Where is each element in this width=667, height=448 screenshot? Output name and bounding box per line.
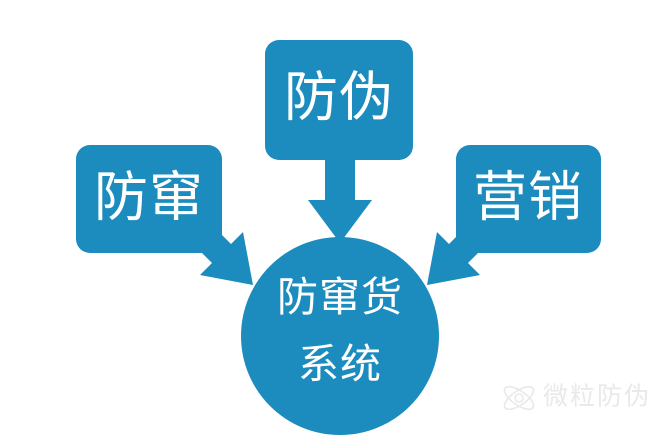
arrow-top-down-icon: [308, 150, 372, 243]
node-fangcuan-label: 防窜: [94, 167, 204, 227]
node-yingxiao[interactable]: 营销: [456, 145, 601, 253]
watermark: 微粒防伪: [501, 383, 651, 414]
node-fangwei-label: 防伪: [284, 67, 394, 127]
hub-label-line1: 防窜货: [277, 274, 403, 320]
hub-node[interactable]: 防窜货 系统: [241, 237, 439, 435]
atom-orbital-icon: [501, 383, 537, 414]
node-fangwei[interactable]: 防伪: [265, 40, 413, 160]
watermark-text: 微粒防伪: [543, 383, 651, 411]
hub-label-line2: 系统: [298, 341, 382, 387]
diagram-canvas: 防窜货 系统 防窜 防伪 营销 微粒防伪: [0, 0, 667, 448]
node-yingxiao-label: 营销: [473, 167, 583, 227]
hub-circle-shape: [241, 237, 439, 435]
node-fangcuan[interactable]: 防窜: [76, 145, 222, 253]
diagram-svg: 防窜货 系统 防窜 防伪 营销 微粒防伪: [0, 0, 667, 448]
